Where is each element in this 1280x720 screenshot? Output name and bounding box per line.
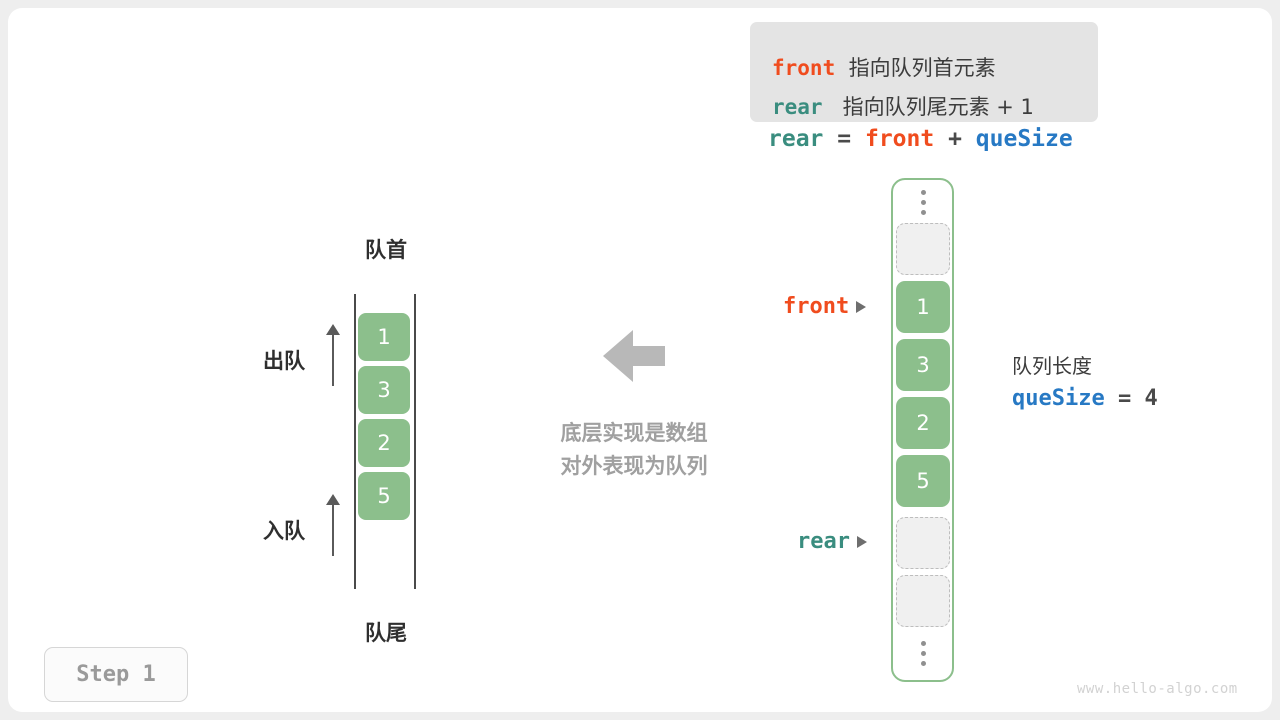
front-pointer: front [783,294,866,319]
quesize-var: queSize [1012,386,1105,411]
front-explanation-text: 指向队列首元素 [849,56,996,80]
queue-rail-left [354,294,356,589]
center-note-line1: 底层实现是数组 [509,417,759,450]
formula-rear: rear [768,126,823,152]
queue-size-label: 队列长度 [1012,350,1092,379]
queue-cell: 1 [358,313,410,361]
enqueue-arrow-icon [324,494,342,556]
queue-head-label: 队首 [356,234,416,264]
rear-explanation-line: rear 指向队列尾元素 + 1 [772,91,1034,121]
diagram-canvas: front 指向队列首元素 rear 指向队列尾元素 + 1 rear = fr… [0,0,1280,720]
formula-equals: = [837,126,851,152]
rear-keyword: rear [772,95,823,119]
quesize-value: 4 [1144,386,1157,411]
left-arrow-icon [603,330,665,382]
formula-quesize: queSize [976,126,1073,152]
rear-formula: rear = front + queSize [768,126,1073,152]
queue-cell: 2 [358,419,410,467]
queue-size-expression: queSize = 4 [1012,386,1158,411]
center-note-line2: 对外表现为队列 [509,450,759,483]
quesize-equals: = [1118,386,1131,411]
rear-pointer-label: rear [797,529,850,554]
array-cell [896,575,950,627]
array-cell [896,223,950,275]
front-pointer-label: front [783,294,849,319]
rear-explanation-text: 指向队列尾元素 + 1 [843,95,1034,119]
rear-pointer-arrow-icon [857,536,867,548]
step-badge: Step 1 [44,647,188,702]
front-pointer-arrow-icon [856,301,866,313]
front-keyword: front [772,56,835,80]
diagram-card: front 指向队列首元素 rear 指向队列尾元素 + 1 rear = fr… [8,8,1272,712]
array-cell: 3 [896,339,950,391]
queue-cell: 5 [358,472,410,520]
dequeue-label: 出队 [263,345,305,375]
array-cell: 2 [896,397,950,449]
front-explanation-line: front 指向队列首元素 [772,52,996,82]
pointer-explanation-box: front 指向队列首元素 rear 指向队列尾元素 + 1 [750,22,1098,122]
formula-front: front [865,126,934,152]
array-cell: 1 [896,281,950,333]
array-cell: 5 [896,455,950,507]
array-ellipsis-top-icon [896,182,950,222]
queue-cell: 3 [358,366,410,414]
queue-rail-right [414,294,416,589]
formula-plus: + [948,126,962,152]
queue-tail-label: 队尾 [356,617,416,647]
rear-pointer: rear [797,529,867,554]
enqueue-label: 入队 [263,515,305,545]
array-ellipsis-bottom-icon [896,633,950,673]
center-note: 底层实现是数组 对外表现为队列 [509,417,759,483]
array-cell [896,517,950,569]
watermark: www.hello-algo.com [1077,681,1238,697]
dequeue-arrow-icon [324,324,342,386]
